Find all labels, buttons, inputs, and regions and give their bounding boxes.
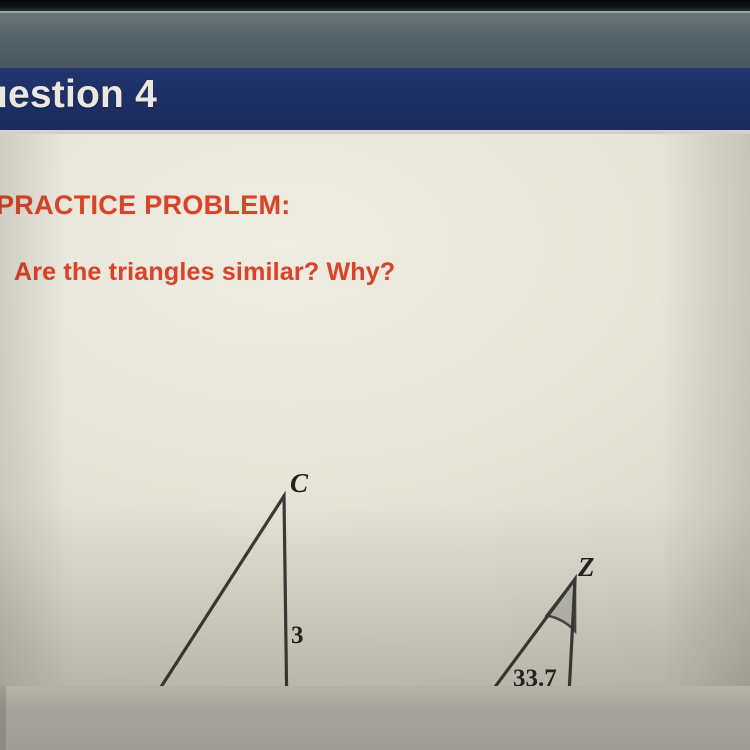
side-length-bc: 3 <box>291 622 304 649</box>
question-title: uestion 4 <box>0 73 157 117</box>
vertex-label-z: Z <box>577 552 595 582</box>
question-banner: uestion 4 <box>0 68 750 130</box>
practice-problem-question: Are the triangles similar? Why? <box>14 258 395 287</box>
vertex-label-c: C <box>290 468 309 498</box>
slide-content: PRACTICE PROBLEM: Are the triangles simi… <box>0 134 750 750</box>
device-bezel-top <box>0 0 750 11</box>
triangle-abc: A B C 2 3 56.3 <box>62 468 320 714</box>
triangles-figure: A B C 2 3 56.3 X Y Z <box>0 294 750 714</box>
triangle-abc-outline <box>92 496 288 714</box>
practice-problem-heading: PRACTICE PROBLEM: <box>0 190 291 221</box>
browser-chrome-strip <box>0 11 750 68</box>
photo-bottom-shade <box>0 686 750 750</box>
screenshot-root: uestion 4 PRACTICE PROBLEM: Are the tria… <box>0 0 750 750</box>
